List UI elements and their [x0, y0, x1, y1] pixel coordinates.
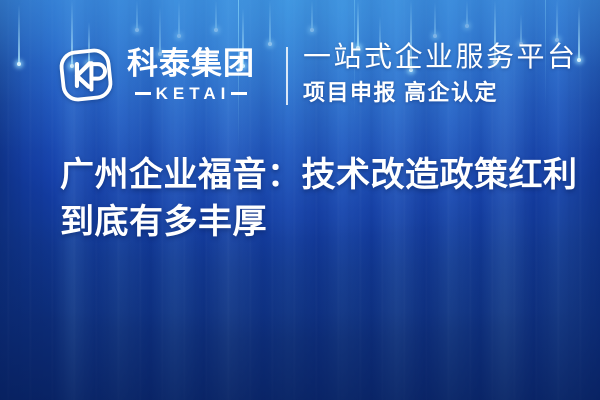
tagline-sub: 项目申报 高企认定 [303, 80, 578, 106]
banner-header: 科泰集团 KETAI 一站式企业服务平台 项目申报 高企认定 [0, 0, 600, 150]
brand-name-en-row: KETAI [127, 84, 255, 103]
brand-tagline-divider [286, 47, 288, 105]
brand-name-cn: 科泰集团 [127, 47, 255, 81]
page-title: 广州企业福音：技术改造政策红利 到底有多丰厚 [60, 152, 570, 246]
brand-text-block: 科泰集团 KETAI [127, 47, 255, 103]
tagline-main: 一站式企业服务平台 [303, 40, 578, 74]
brand-dash-left-icon [135, 92, 151, 95]
promo-banner: 科泰集团 KETAI 一站式企业服务平台 项目申报 高企认定 广州企业福音：技术… [0, 0, 600, 400]
brand-dash-right-icon [231, 92, 247, 95]
headline-line-1: 广州企业福音：技术改造政策红利 [60, 152, 570, 199]
brand-name-en: KETAI [156, 84, 231, 103]
tagline-block: 一站式企业服务平台 项目申报 高企认定 [303, 40, 578, 106]
brand-lockup: 科泰集团 KETAI [57, 46, 255, 104]
ketai-diamond-kp-logo-icon [57, 46, 115, 104]
headline-line-2: 到底有多丰厚 [60, 199, 570, 246]
